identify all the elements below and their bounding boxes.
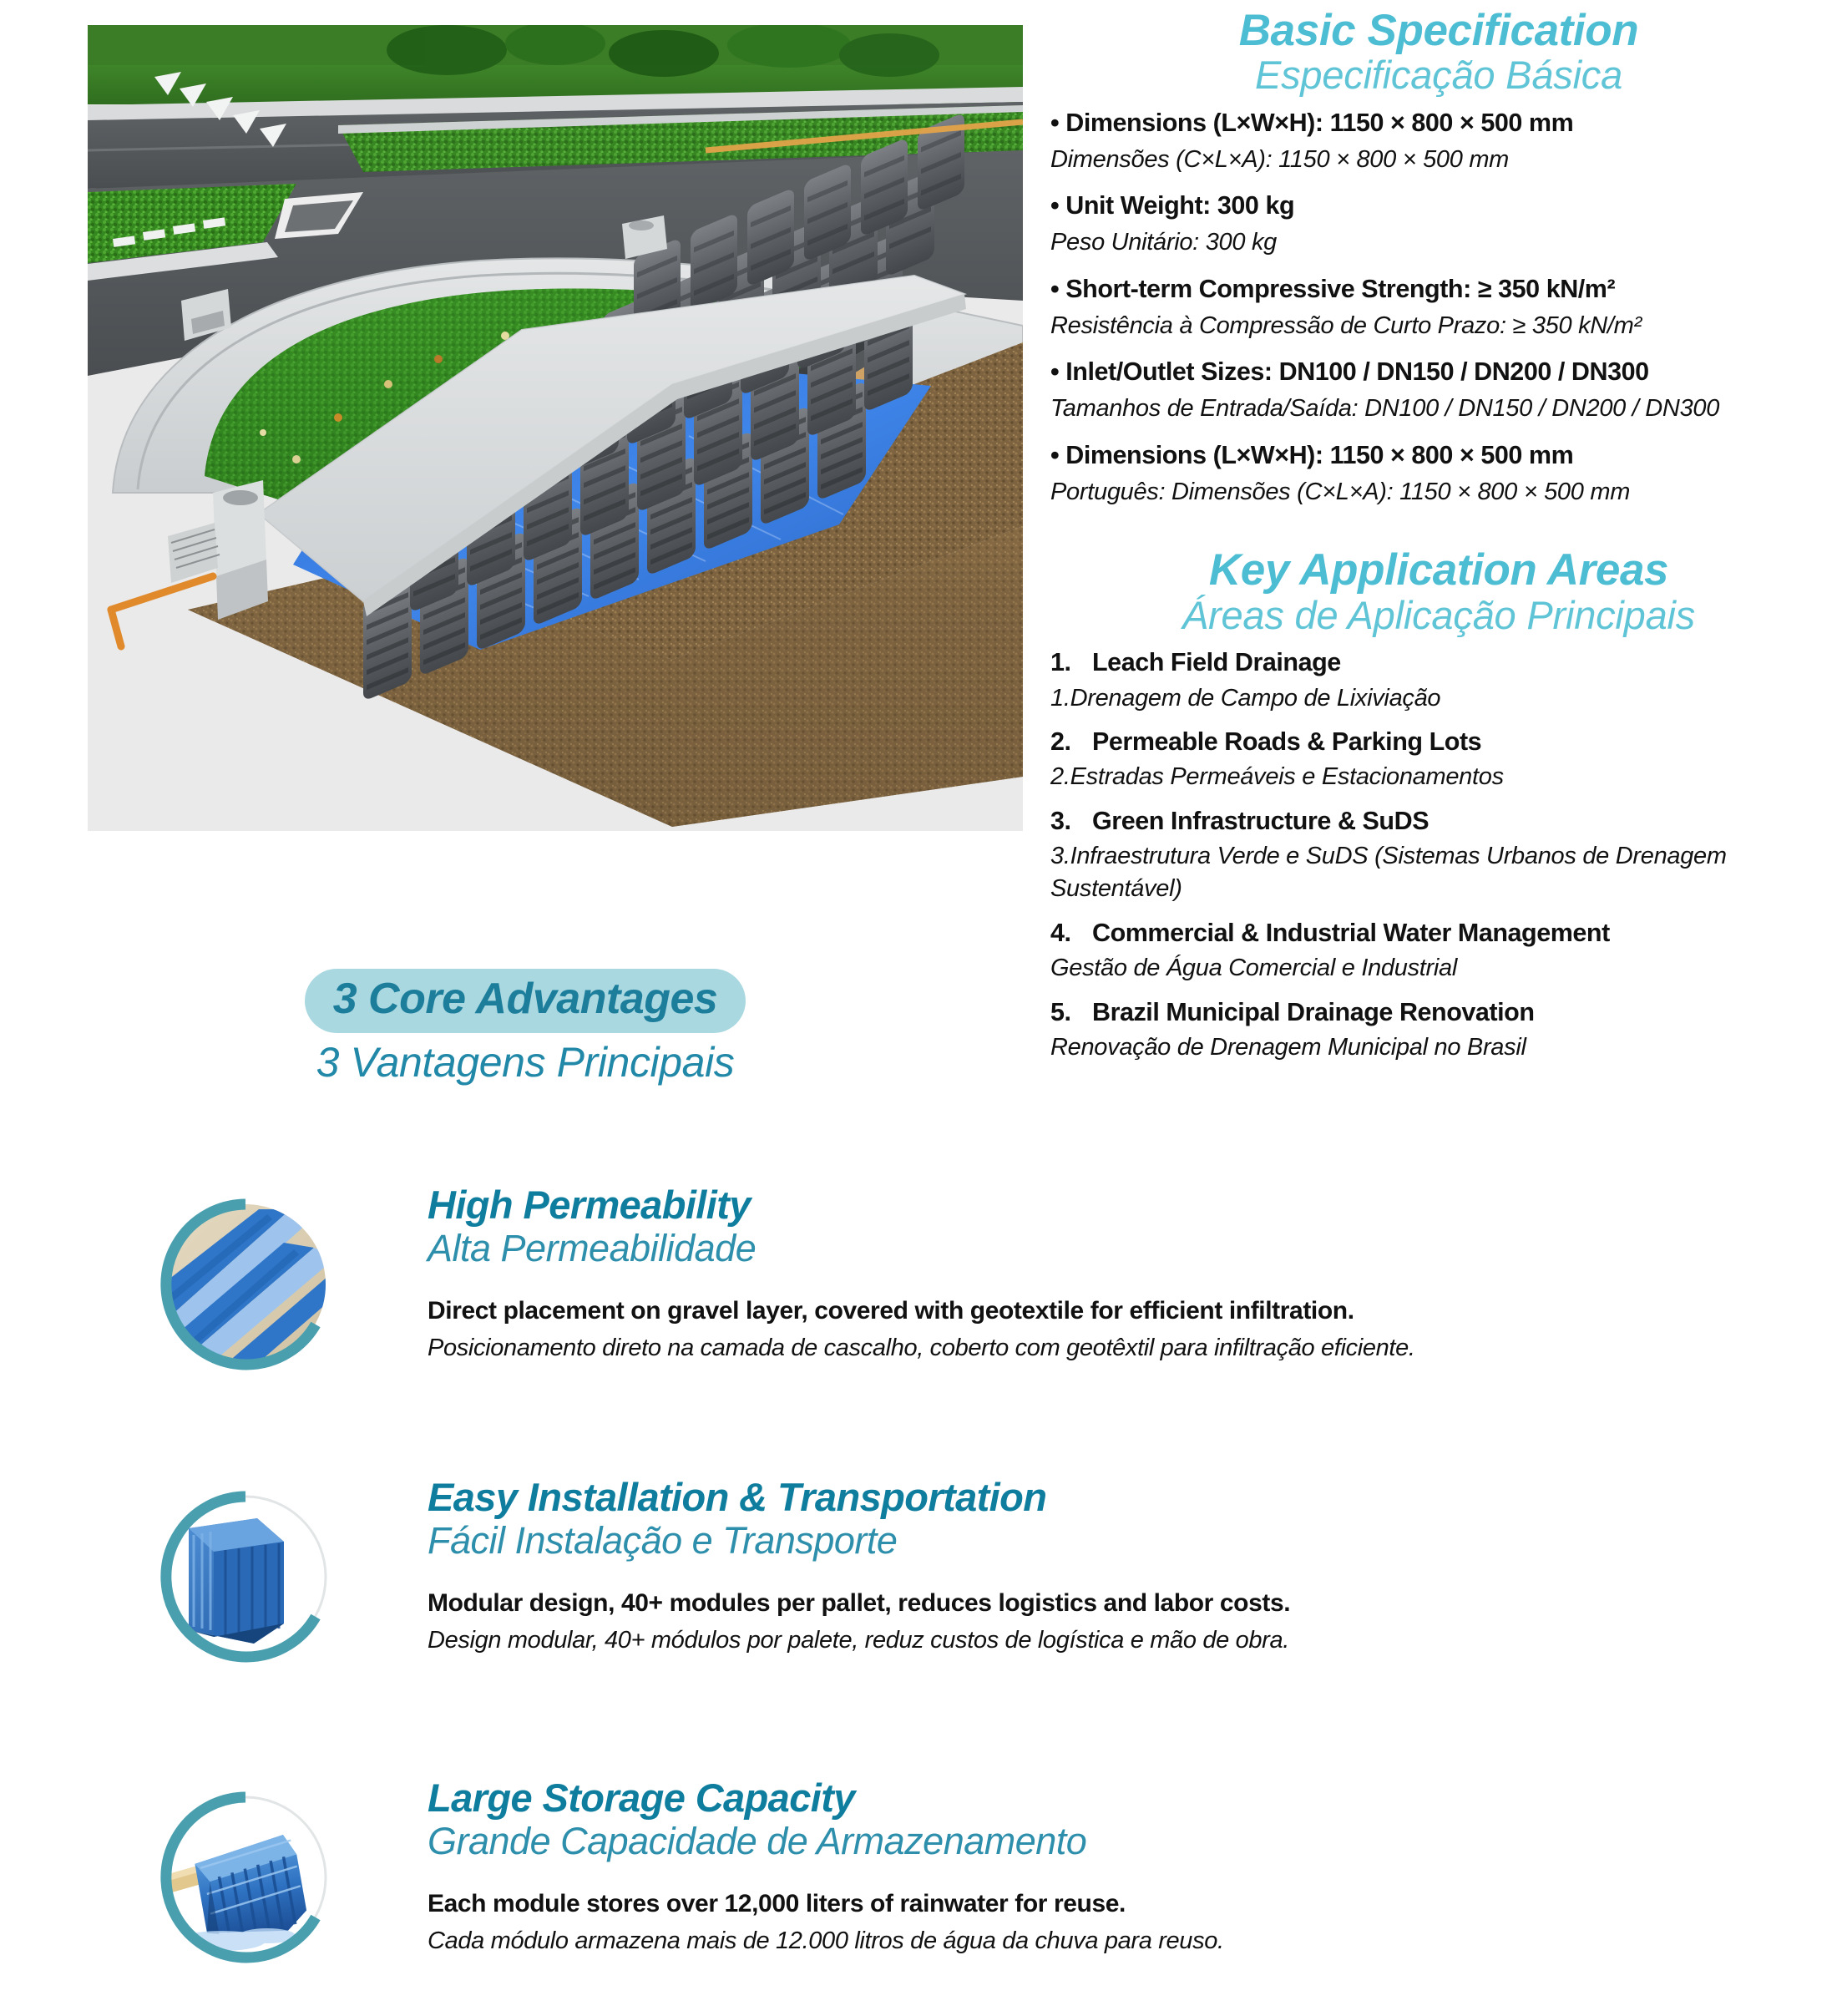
advantage-desc-pt: Posicionamento direto na camada de casca…	[428, 1333, 1797, 1365]
key-application-areas-title: Key Application Areas Áreas de Aplicação…	[1050, 548, 1827, 635]
spec-title-pt: Especificação Básica	[1050, 55, 1827, 95]
storage-tank-icon-svg	[142, 1777, 342, 1978]
advantage-title-pt: Alta Permeabilidade	[428, 1228, 1797, 1269]
core-advantages-header: 3 Core Advantages 3 Vantagens Principais	[0, 969, 1050, 1087]
application-item-en: 3. Green Infrastructure & SuDS	[1050, 805, 1827, 838]
advantage-title-en: High Permeability	[428, 1184, 1797, 1226]
advantage-body: Large Storage Capacity Grande Capacidade…	[428, 1777, 1797, 1958]
spec-item-pt: Dimensões (C×L×A): 1150 × 800 × 500 mm	[1050, 144, 1827, 176]
application-item-number: 5.	[1050, 996, 1079, 1029]
module-stack-icon-svg	[142, 1477, 342, 1677]
advantage-title-en: Large Storage Capacity	[428, 1777, 1797, 1819]
application-item-pt: Renovação de Drenagem Municipal no Brasi…	[1050, 1031, 1827, 1064]
advantage-body: Easy Installation & Transportation Fácil…	[428, 1477, 1797, 1657]
advantage-title-pt: Grande Capacidade de Armazenamento	[428, 1821, 1797, 1862]
stormwater-cutaway-svg	[88, 25, 1023, 831]
application-list: 1. Leach Field Drainage 1.Drenagem de Ca…	[1050, 646, 1827, 1063]
application-item-en: 5. Brazil Municipal Drainage Renovation	[1050, 996, 1827, 1029]
advantage-desc-en: Modular design, 40+ modules per pallet, …	[428, 1587, 1797, 1619]
spec-item: • Dimensions (L×W×H): 1150 × 800 × 500 m…	[1050, 107, 1827, 176]
spec-item-en: • Dimensions (L×W×H): 1150 × 800 × 500 m…	[1050, 439, 1827, 473]
advantage-desc-en: Each module stores over 12,000 liters of…	[428, 1887, 1797, 1920]
application-item-number: 1.	[1050, 646, 1079, 679]
advantage-title-pt: Fácil Instalação e Transporte	[428, 1520, 1797, 1562]
application-item-pt: 1.Drenagem de Campo de Lixiviação	[1050, 682, 1827, 715]
spec-item-en: • Dimensions (L×W×H): 1150 × 800 × 500 m…	[1050, 107, 1827, 140]
application-item-number: 3.	[1050, 805, 1079, 838]
basic-specification-title: Basic Specification Especificação Básica	[1050, 8, 1827, 95]
application-item: 2. Permeable Roads & Parking Lots 2.Estr…	[1050, 726, 1827, 793]
application-item-en: 2. Permeable Roads & Parking Lots	[1050, 726, 1827, 758]
permeability-photo-icon	[142, 1184, 342, 1385]
spec-item: • Unit Weight: 300 kg Peso Unitário: 300…	[1050, 190, 1827, 259]
application-item-pt: 3.Infraestrutura Verde e SuDS (Sistemas …	[1050, 840, 1827, 905]
application-item-en: 1. Leach Field Drainage	[1050, 646, 1827, 679]
spec-item-pt: Tamanhos de Entrada/Saída: DN100 / DN150…	[1050, 393, 1827, 425]
advantage-desc-pt: Design modular, 40+ módulos por palete, …	[428, 1625, 1797, 1657]
spec-item-en: • Unit Weight: 300 kg	[1050, 190, 1827, 223]
module-stack-photo-icon	[142, 1477, 342, 1677]
application-item-label: Brazil Municipal Drainage Renovation	[1092, 996, 1535, 1029]
permeability-icon-svg	[142, 1184, 342, 1385]
application-item: 5. Brazil Municipal Drainage Renovation …	[1050, 996, 1827, 1064]
application-item: 4. Commercial & Industrial Water Managem…	[1050, 917, 1827, 985]
spec-item-pt: Peso Unitário: 300 kg	[1050, 226, 1827, 259]
spec-item: • Inlet/Outlet Sizes: DN100 / DN150 / DN…	[1050, 356, 1827, 425]
application-item-number: 2.	[1050, 726, 1079, 758]
spec-item-en: • Inlet/Outlet Sizes: DN100 / DN150 / DN…	[1050, 356, 1827, 389]
apps-title-en: Key Application Areas	[1209, 545, 1668, 595]
application-item-number: 4.	[1050, 917, 1079, 950]
application-item-pt: Gestão de Água Comercial e Industrial	[1050, 952, 1827, 985]
application-item: 1. Leach Field Drainage 1.Drenagem de Ca…	[1050, 646, 1827, 714]
advantage-body: High Permeability Alta Permeabilidade Di…	[428, 1184, 1797, 1365]
spec-title-en: Basic Specification	[1239, 6, 1638, 55]
apps-title-pt: Áreas de Aplicação Principais	[1050, 595, 1827, 636]
application-item-label: Green Infrastructure & SuDS	[1092, 805, 1429, 838]
application-item-label: Leach Field Drainage	[1092, 646, 1341, 679]
application-item-label: Permeable Roads & Parking Lots	[1092, 726, 1481, 758]
application-item: 3. Green Infrastructure & SuDS 3.Infraes…	[1050, 805, 1827, 905]
advantage-desc-pt: Cada módulo armazena mais de 12.000 litr…	[428, 1926, 1797, 1958]
storage-tank-photo-icon	[142, 1777, 342, 1978]
application-item-pt: 2.Estradas Permeáveis e Estacionamentos	[1050, 761, 1827, 793]
application-item-label: Commercial & Industrial Water Management	[1092, 917, 1610, 950]
advantage-desc-en: Direct placement on gravel layer, covere…	[428, 1294, 1797, 1327]
product-spec-sheet: Basic Specification Especificação Básica…	[0, 0, 1847, 2016]
spec-item-pt: Resistência à Compressão de Curto Prazo:…	[1050, 310, 1827, 342]
core-advantages-title-pt: 3 Vantagens Principais	[0, 1038, 1050, 1087]
spec-item-en: • Short-term Compressive Strength: ≥ 350…	[1050, 273, 1827, 306]
spec-item-pt: Português: Dimensões (C×L×A): 1150 × 800…	[1050, 476, 1827, 509]
spec-item: • Short-term Compressive Strength: ≥ 350…	[1050, 273, 1827, 342]
application-item-en: 4. Commercial & Industrial Water Managem…	[1050, 917, 1827, 950]
spec-item: • Dimensions (L×W×H): 1150 × 800 × 500 m…	[1050, 439, 1827, 509]
advantage-title-en: Easy Installation & Transportation	[428, 1477, 1797, 1518]
specification-list: • Dimensions (L×W×H): 1150 × 800 × 500 m…	[1050, 107, 1827, 509]
right-text-column: Basic Specification Especificação Básica…	[1050, 8, 1827, 1076]
core-advantages-title-en: 3 Core Advantages	[305, 969, 746, 1033]
hero-illustration	[88, 25, 1023, 831]
